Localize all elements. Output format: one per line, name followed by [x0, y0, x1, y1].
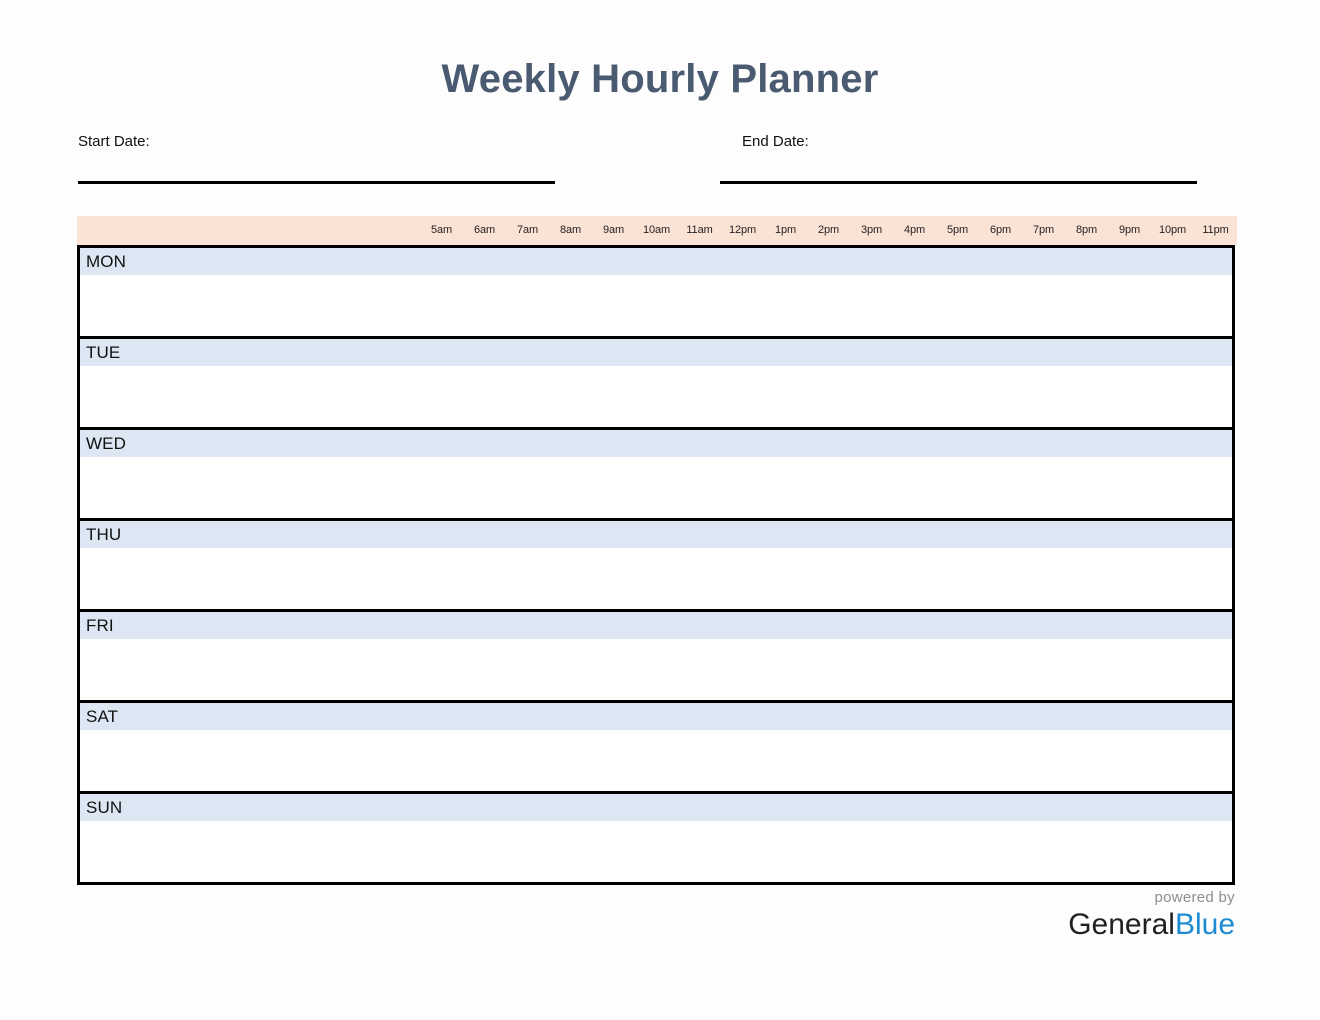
day-header: THU [80, 521, 1232, 548]
hour-label: 9am [592, 216, 635, 245]
day-entry-area[interactable] [80, 275, 1232, 336]
hour-label: 8pm [1065, 216, 1108, 245]
hour-label: 12pm [721, 216, 764, 245]
hour-label: 7pm [1022, 216, 1065, 245]
end-date-write-line[interactable] [720, 181, 1197, 184]
day-abbr-label: WED [86, 435, 126, 452]
day-abbr-label: FRI [86, 617, 114, 634]
day-header: SAT [80, 703, 1232, 730]
hours-row: 5am6am7am8am9am10am11am12pm1pm2pm3pm4pm5… [420, 216, 1237, 245]
brand-general-text: General [1068, 908, 1175, 941]
hour-label: 3pm [850, 216, 893, 245]
day-abbr-label: SUN [86, 799, 122, 816]
page-title: Weekly Hourly Planner [0, 57, 1320, 101]
start-date-field[interactable]: Start Date: [78, 134, 150, 149]
brand-blue-text: Blue [1175, 908, 1235, 941]
day-entry-area[interactable] [80, 730, 1232, 791]
day-row-sat: SAT [80, 700, 1232, 791]
hour-label: 10am [635, 216, 678, 245]
end-date-field[interactable]: End Date: [742, 134, 809, 149]
day-entry-area[interactable] [80, 821, 1232, 882]
powered-by-label: powered by [1068, 890, 1235, 905]
hour-label: 6am [463, 216, 506, 245]
general-blue-logo: powered by GeneralBlue [1068, 890, 1235, 940]
day-row-mon: MON [80, 245, 1232, 336]
weekly-planner-table: MONTUEWEDTHUFRISATSUN [77, 245, 1235, 885]
hour-label: 5am [420, 216, 463, 245]
start-date-write-line[interactable] [78, 181, 555, 184]
day-entry-area[interactable] [80, 639, 1232, 700]
brand-wordmark: GeneralBlue [1068, 910, 1235, 940]
day-row-wed: WED [80, 427, 1232, 518]
end-date-label: End Date: [742, 134, 809, 149]
day-abbr-label: SAT [86, 708, 118, 725]
hour-label: 9pm [1108, 216, 1151, 245]
day-entry-area[interactable] [80, 548, 1232, 609]
day-entry-area[interactable] [80, 366, 1232, 427]
hour-label: 11pm [1194, 216, 1237, 245]
day-header: FRI [80, 612, 1232, 639]
day-header: TUE [80, 339, 1232, 366]
hours-header-strip: 5am6am7am8am9am10am11am12pm1pm2pm3pm4pm5… [77, 216, 1237, 245]
planner-page: Weekly Hourly Planner Start Date: End Da… [0, 0, 1320, 1020]
day-header: SUN [80, 794, 1232, 821]
hour-label: 1pm [764, 216, 807, 245]
hour-label: 6pm [979, 216, 1022, 245]
hour-label: 4pm [893, 216, 936, 245]
day-abbr-label: MON [86, 253, 126, 270]
day-abbr-label: TUE [86, 344, 120, 361]
day-row-tue: TUE [80, 336, 1232, 427]
day-row-thu: THU [80, 518, 1232, 609]
day-header: WED [80, 430, 1232, 457]
day-abbr-label: THU [86, 526, 121, 543]
hour-label: 10pm [1151, 216, 1194, 245]
day-row-sun: SUN [80, 791, 1232, 882]
hour-label: 11am [678, 216, 721, 245]
day-row-fri: FRI [80, 609, 1232, 700]
hour-label: 7am [506, 216, 549, 245]
start-date-label: Start Date: [78, 134, 150, 149]
day-header: MON [80, 248, 1232, 275]
hour-label: 8am [549, 216, 592, 245]
day-entry-area[interactable] [80, 457, 1232, 518]
hour-label: 5pm [936, 216, 979, 245]
hour-label: 2pm [807, 216, 850, 245]
